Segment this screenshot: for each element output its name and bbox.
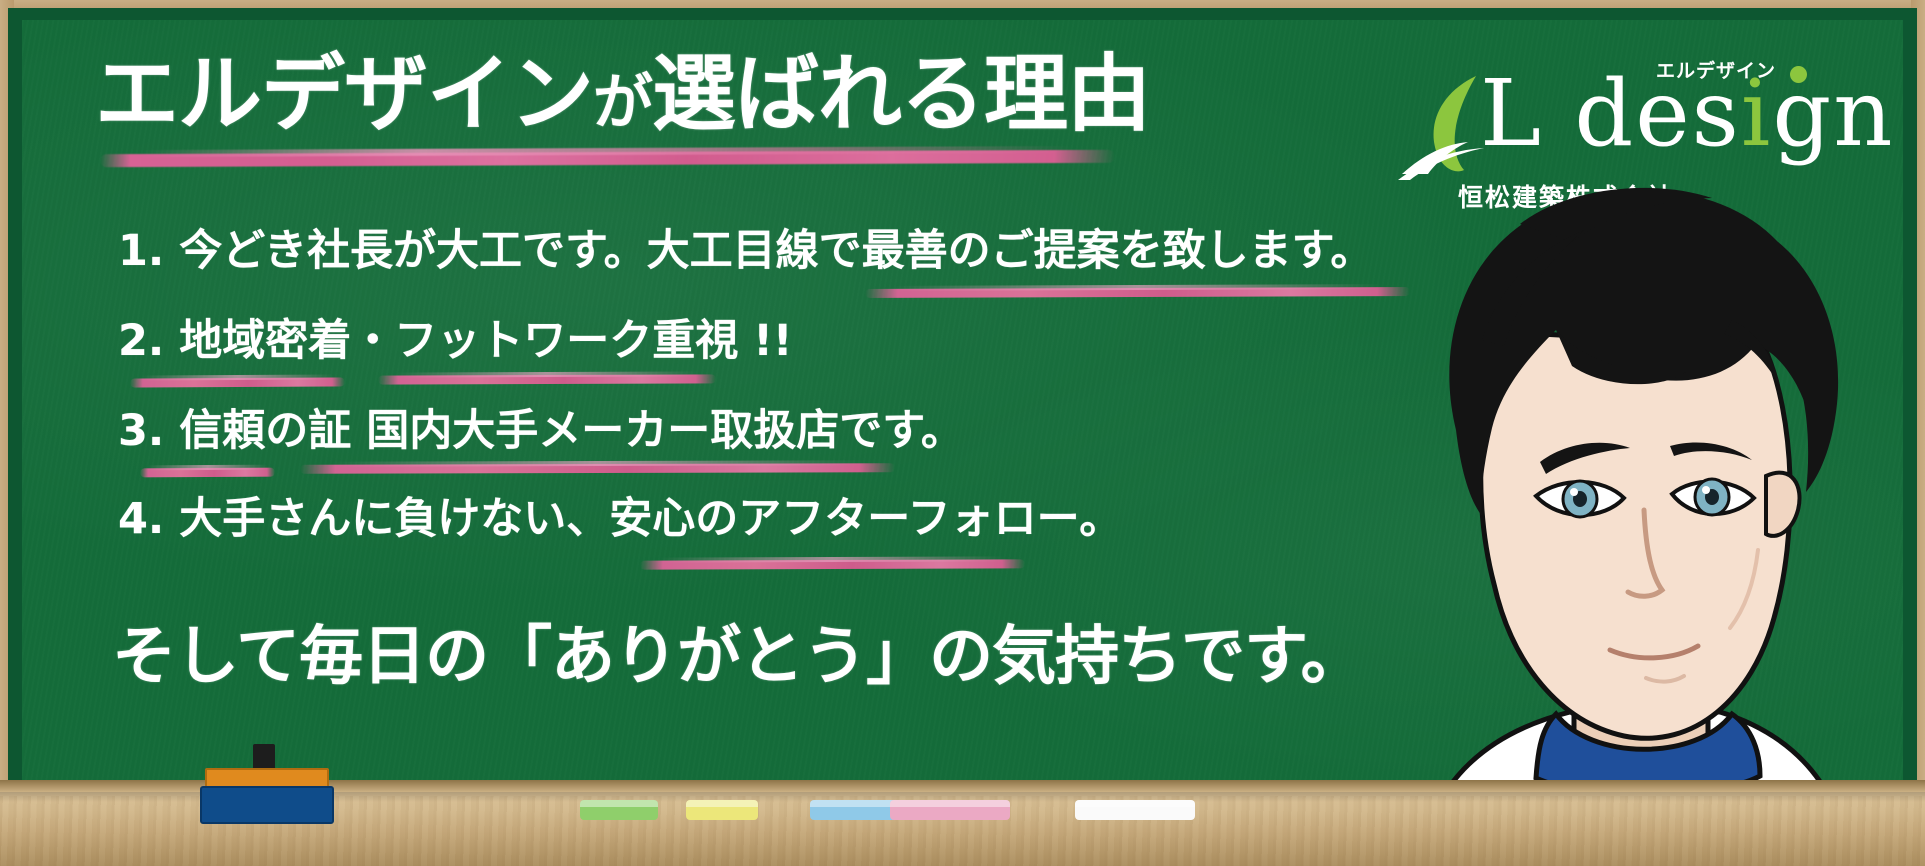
- title-particle: が: [593, 68, 652, 138]
- chalk-underline: [130, 377, 345, 387]
- title-rest: 選ばれる理由: [652, 45, 1150, 143]
- list-item: 4. 大手さんに負けない、安心のアフターフォロー。: [118, 498, 1122, 541]
- chalkboard-eraser[interactable]: [200, 764, 330, 824]
- eraser-felt: [200, 786, 334, 824]
- tagline: そして毎日の「ありがとう」の気持ちです。: [112, 625, 1364, 689]
- list-item-number: 4.: [118, 494, 164, 544]
- list-item-text: 信頼の証 国内大手メーカー取扱店です。: [179, 406, 964, 456]
- chalk-underline: [640, 559, 1025, 569]
- logo-wordmark-highlight: i: [1741, 60, 1772, 167]
- list-item-number: 3.: [118, 406, 164, 456]
- chalk-pink[interactable]: [890, 800, 1010, 820]
- chalk-yellow[interactable]: [686, 800, 758, 820]
- chalk-underline: [140, 468, 275, 478]
- list-item-text: 大手さんに負けない、安心のアフターフォロー。: [179, 494, 1122, 544]
- chalk-underline: [378, 374, 716, 384]
- title-main: エルデザイン: [95, 45, 593, 143]
- illustrated-man-portrait: [1360, 180, 1900, 866]
- list-item: 3. 信頼の証 国内大手メーカー取扱店です。: [118, 410, 964, 453]
- chalk-underline: [865, 287, 1410, 298]
- list-item-number: 1.: [118, 226, 164, 276]
- logo-wordmark: L design: [1480, 68, 1894, 160]
- page-title: エルデザインが選ばれる理由: [95, 52, 1150, 136]
- chalk-underline: [300, 463, 895, 474]
- chalk-green[interactable]: [580, 800, 658, 820]
- list-item: 2. 地域密着・フットワーク重視 !!: [118, 320, 792, 363]
- logo-wordmark-pre: L des: [1480, 60, 1741, 167]
- chalk-white[interactable]: [1075, 800, 1195, 820]
- logo-wordmark-post: gn: [1772, 60, 1894, 167]
- list-item-text: 地域密着・フットワーク重視 !!: [179, 316, 792, 366]
- list-item-text: 今どき社長が大工です。大工目線で最善のご提案を致します。: [179, 226, 1373, 276]
- list-item: 1. 今どき社長が大工です。大工目線で最善のご提案を致します。: [118, 230, 1373, 273]
- chalkboard-banner: エルデザインが選ばれる理由 エルデザイン L design 恒松建築株式会社 1…: [0, 0, 1925, 866]
- list-item-number: 2.: [118, 316, 164, 366]
